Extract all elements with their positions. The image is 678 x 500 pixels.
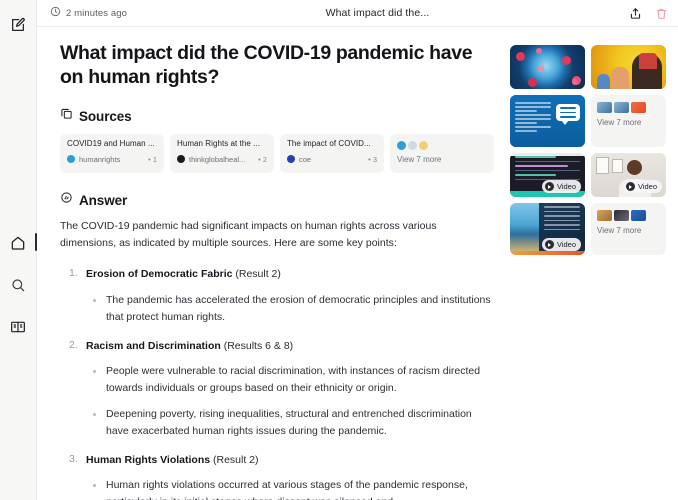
media-blue-infocard[interactable] [510,95,585,147]
video-badge: Video [623,180,662,193]
top-bar-center: What impact did the... [127,7,628,19]
delete-icon[interactable] [654,6,669,21]
scroll-body[interactable]: What impact did the COVID-19 pandemic ha… [37,27,678,500]
sources-view-more-card[interactable]: View 7 more [390,134,494,173]
favicon-icon [287,155,295,163]
answer-item-heading: Erosion of Democratic Fabric (Result 2) [86,267,492,283]
rail-top-group [5,0,31,38]
answer-item-citation: (Results 6 & 8) [224,340,293,352]
main-column: What impact did the COVID-19 pandemic ha… [37,27,510,500]
media-code-video[interactable]: Video [510,153,585,197]
answer-item-title: Human Rights Violations [86,454,210,466]
video-badge: Video [542,180,581,193]
answer-bullet: The pandemic has accelerated the erosion… [106,292,492,326]
timestamp: 2 minutes ago [66,8,127,19]
video-badge: Video [542,238,581,251]
answer-section: Answer The COVID-19 pandemic had signifi… [60,191,492,500]
thumbnail-chip [597,210,612,221]
media-protest[interactable] [591,45,666,89]
thumbnail-chip [614,102,629,113]
content-area: 2 minutes ago What impact did the... [37,0,678,500]
favicon-icon [177,155,185,163]
answer-item: Erosion of Democratic Fabric (Result 2) … [60,267,492,325]
play-icon [545,240,554,249]
thumbnail-image [510,95,585,147]
source-meta: thinkglobalheal... 2 [177,155,267,164]
answer-bullet: Human rights violations occurred at vari… [106,477,492,500]
favicon-icon [419,141,428,150]
favicon-icon [67,155,75,163]
media-view-more-label: View 7 more [597,226,660,235]
source-meta: humanrights 1 [67,155,157,164]
source-index: 1 [148,155,157,164]
answer-item-title: Erosion of Democratic Fabric [86,268,232,280]
sources-favicon-stack [397,141,487,150]
library-icon[interactable] [5,314,31,340]
answer-heading-row: Answer [60,191,492,209]
answer-item-title: Racism and Discrimination [86,340,221,352]
answer-bullet: Deepening poverty, rising inequalities, … [106,406,492,440]
answer-item-heading: Racism and Discrimination (Results 6 & 8… [86,339,492,355]
media-person-video[interactable]: Video [591,153,666,197]
media-virus-globe[interactable] [510,45,585,89]
top-bar: 2 minutes ago What impact did the... [37,0,678,27]
source-title: The impact of COVID... [287,139,377,149]
favicon-icon [397,141,406,150]
thumbnail-image [510,45,585,89]
media-grid: View 7 more Video [510,45,670,255]
sources-heading: Sources [79,109,132,124]
sources-row: COVID19 and Human ... humanrights 1 Huma… [60,134,492,173]
video-label: Video [557,182,576,191]
media-column: View 7 more Video [510,27,678,500]
answer-heading: Answer [79,193,127,208]
source-title: Human Rights at the ... [177,139,267,149]
answer-item: Human Rights Violations (Result 2) Human… [60,453,492,500]
media-view-more-top[interactable]: View 7 more [591,95,666,147]
page-title: What impact did the COVID-19 pandemic ha… [60,41,480,89]
sparkle-icon [60,191,73,209]
thumbnail-chip [631,210,646,221]
share-icon[interactable] [628,6,643,21]
thumbnail-strip [597,102,660,113]
answer-bullet-text: The pandemic has accelerated the erosion… [106,292,492,326]
source-card[interactable]: COVID19 and Human ... humanrights 1 [60,134,164,173]
answer-bullets: The pandemic has accelerated the erosion… [86,292,492,326]
favicon-icon [408,141,417,150]
rail-bottom-group [0,230,36,340]
app-window: 2 minutes ago What impact did the... [0,0,678,500]
source-card[interactable]: The impact of COVID... coe 3 [280,134,384,173]
source-card[interactable]: Human Rights at the ... thinkglobalheal.… [170,134,274,173]
media-beach-video[interactable]: Video [510,203,585,255]
thumbnail-image [591,45,666,89]
answer-intro: The COVID-19 pandemic had significant im… [60,218,480,252]
media-view-more-bottom[interactable]: View 7 more [591,203,666,255]
source-title: COVID19 and Human ... [67,139,157,149]
answer-list: Erosion of Democratic Fabric (Result 2) … [60,267,492,500]
answer-bullet-text: Deepening poverty, rising inequalities, … [106,406,492,440]
conversation-title: What impact did the... [326,7,430,19]
source-index: 3 [368,155,377,164]
top-bar-left: 2 minutes ago [50,4,127,22]
thumbnail-chip [597,102,612,113]
video-label: Video [638,182,657,191]
left-rail [0,0,37,500]
answer-bullets: Human rights violations occurred at vari… [86,477,492,500]
sources-view-more-label: View 7 more [397,155,487,164]
compose-icon[interactable] [5,12,31,38]
video-label: Video [557,240,576,249]
thumbnail-strip [597,210,660,221]
answer-item-citation: (Result 2) [235,268,281,280]
home-icon[interactable] [5,230,31,256]
source-domain: humanrights [79,155,144,164]
clock-icon [50,4,61,22]
play-icon [545,182,554,191]
source-domain: thinkglobalheal... [189,155,254,164]
top-bar-right [628,6,669,21]
answer-bullet-text: Human rights violations occurred at vari… [106,477,492,500]
sources-heading-row: Sources [60,107,492,125]
answer-item-citation: (Result 2) [213,454,259,466]
thumbnail-chip [614,210,629,221]
answer-item-heading: Human Rights Violations (Result 2) [86,453,492,469]
source-domain: coe [299,155,364,164]
search-icon[interactable] [5,272,31,298]
answer-bullets: People were vulnerable to racial discrim… [86,363,492,439]
thumbnail-chip [631,102,646,113]
source-meta: coe 3 [287,155,377,164]
media-view-more-label: View 7 more [597,118,660,127]
sources-icon [60,107,73,125]
answer-bullet: People were vulnerable to racial discrim… [106,363,492,397]
play-icon [626,182,635,191]
source-index: 2 [258,155,267,164]
sources-section: Sources COVID19 and Human ... humanright… [60,107,492,173]
answer-bullet-text: People were vulnerable to racial discrim… [106,363,492,397]
answer-item: Racism and Discrimination (Results 6 & 8… [60,339,492,440]
